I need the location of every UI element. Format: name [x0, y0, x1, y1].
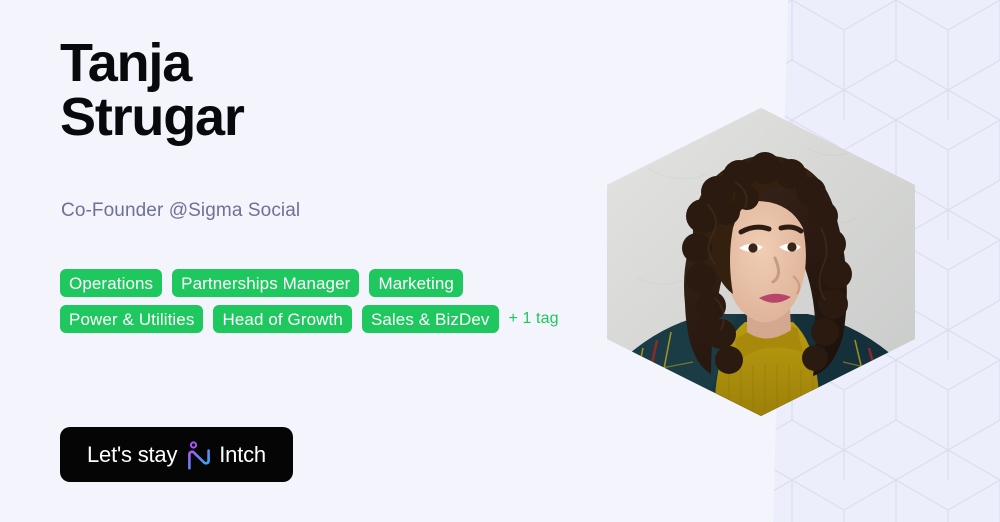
tag-chip[interactable]: Power & Utilities [60, 305, 203, 333]
lets-stay-intch-button[interactable]: Let's stay Intch [60, 427, 293, 482]
tag-chip[interactable]: Partnerships Manager [172, 269, 359, 297]
tag-chip[interactable]: Sales & BizDev [362, 305, 499, 333]
profile-card: Tanja Strugar Co-Founder @Sigma Social O… [0, 0, 1000, 522]
intch-logo-icon [186, 441, 212, 471]
page-title: Tanja Strugar [60, 36, 580, 144]
cta-label-after: Intch [219, 442, 266, 468]
tag-list: Operations Partnerships Manager Marketin… [60, 269, 580, 333]
more-tags-label[interactable]: + 1 tag [509, 305, 559, 333]
tag-chip[interactable]: Head of Growth [213, 305, 351, 333]
tag-chip[interactable]: Marketing [369, 269, 463, 297]
profile-info: Tanja Strugar Co-Founder @Sigma Social O… [60, 0, 590, 522]
tag-chip[interactable]: Operations [60, 269, 162, 297]
cta-label-before: Let's stay [87, 442, 177, 468]
profile-subtitle: Co-Founder @Sigma Social [61, 198, 300, 224]
